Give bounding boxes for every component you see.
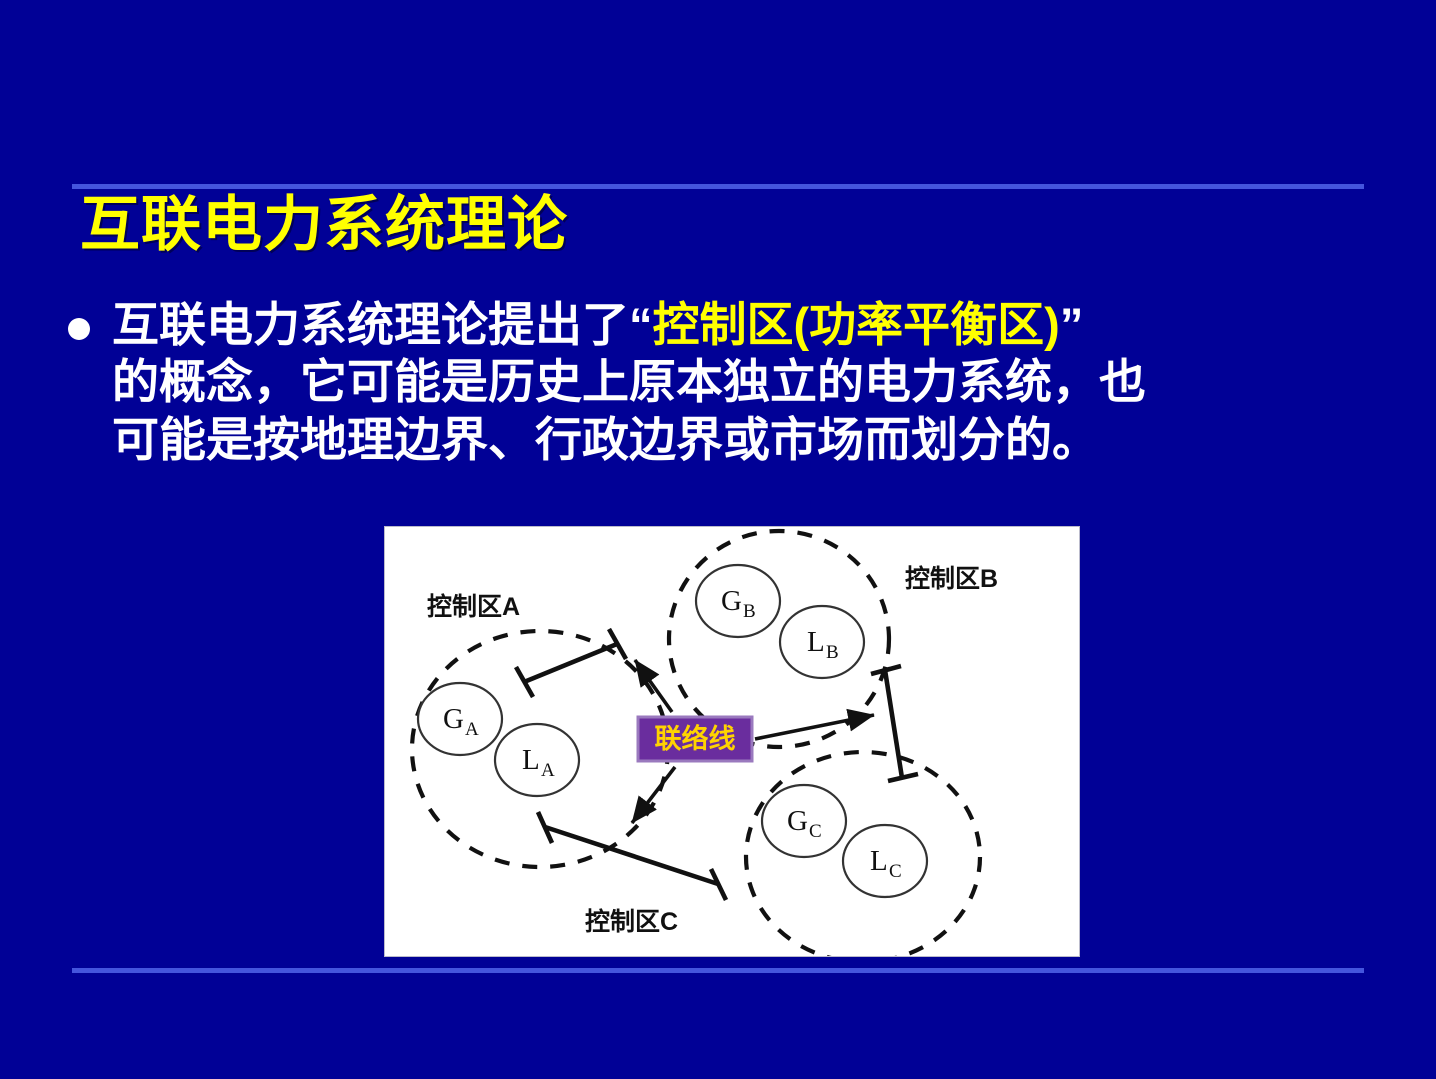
bullet-line-1-before: 互联电力系统理论提出了“ xyxy=(112,298,653,351)
pointer-arrow-to-tie-bc xyxy=(755,715,874,739)
region-label-a: 控制区A xyxy=(427,593,520,621)
node-gb-letter: G xyxy=(721,585,742,617)
control-area-diagram-panel: G A L A G B L B xyxy=(385,527,1079,956)
node-lb: L B xyxy=(780,606,864,678)
pointer-arrow-to-tie-ab xyxy=(635,660,672,712)
tie-line-a-b-cap-left xyxy=(516,667,533,697)
top-divider-rule xyxy=(72,184,1364,189)
node-lb-letter: L xyxy=(807,626,825,658)
tie-line-a-b xyxy=(524,644,617,682)
bottom-divider-rule xyxy=(72,968,1364,973)
tie-line-b-c xyxy=(885,670,902,778)
node-ga-subscript: A xyxy=(465,719,479,740)
node-lc-subscript: C xyxy=(889,861,902,882)
node-lc: L C xyxy=(843,825,927,897)
tie-line-callout-text: 联络线 xyxy=(655,723,736,754)
region-label-b: 控制区B xyxy=(905,565,998,593)
bullet-line-1-after: ” xyxy=(1060,298,1084,351)
pointer-arrow-to-tie-ac xyxy=(632,767,675,823)
control-area-diagram: G A L A G B L B xyxy=(385,527,1079,956)
tie-line-callout: 联络线 xyxy=(638,717,752,761)
region-label-c: 控制区C xyxy=(585,908,678,936)
node-gc-subscript: C xyxy=(809,821,822,842)
node-gc: G C xyxy=(762,785,846,857)
node-gc-letter: G xyxy=(787,805,808,837)
slide-canvas: 互联电力系统理论 互联电力系统理论提出了“控制区(功率平衡区)” 的概念，它可能… xyxy=(0,0,1436,1079)
bullet-body: 互联电力系统理论提出了“控制区(功率平衡区)” 的概念，它可能是历史上原本独立的… xyxy=(64,296,1384,468)
tie-line-a-c xyxy=(545,827,718,884)
bullet-line-1: 互联电力系统理论提出了“控制区(功率平衡区)” xyxy=(112,296,1384,353)
bullet-line-3: 可能是按地理边界、行政边界或市场而划分的。 xyxy=(112,411,1384,468)
bullet-dot-icon xyxy=(68,318,90,340)
bullet-line-2: 的概念，它可能是历史上原本独立的电力系统，也 xyxy=(112,353,1384,410)
node-gb: G B xyxy=(696,565,780,637)
node-ga: G A xyxy=(418,683,502,755)
node-lb-subscript: B xyxy=(826,642,839,663)
node-ga-letter: G xyxy=(443,703,464,735)
page-title: 互联电力系统理论 xyxy=(80,195,568,255)
node-gb-subscript: B xyxy=(743,601,756,622)
node-la-subscript: A xyxy=(541,760,555,781)
bullet-text-lines: 互联电力系统理论提出了“控制区(功率平衡区)” 的概念，它可能是历史上原本独立的… xyxy=(112,296,1384,468)
node-la-letter: L xyxy=(522,744,540,776)
node-la: L A xyxy=(495,724,579,796)
bullet-line-1-highlight: 控制区(功率平衡区) xyxy=(653,298,1060,351)
node-lc-letter: L xyxy=(870,845,888,877)
